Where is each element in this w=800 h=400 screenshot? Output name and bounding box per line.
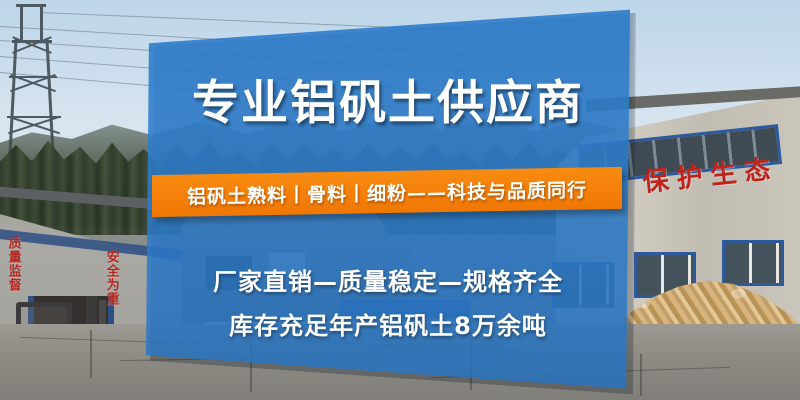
left-building-slogan-1: 质量监督 xyxy=(6,236,20,302)
page-title: 专业铝矾土供应商 xyxy=(146,80,630,127)
right-building-window xyxy=(722,240,784,286)
promo-banner: 质量监督 安全为重 保护生态 xyxy=(0,0,800,400)
subline-2: 库存充足年产铝矾土8万余吨 xyxy=(146,306,630,341)
subline-1: 厂家直销—质量稳定—规格齐全 xyxy=(146,262,630,297)
orange-bar-label: 铝矾土熟料丨骨料丨细粉——科技与品质同行 xyxy=(152,167,622,217)
